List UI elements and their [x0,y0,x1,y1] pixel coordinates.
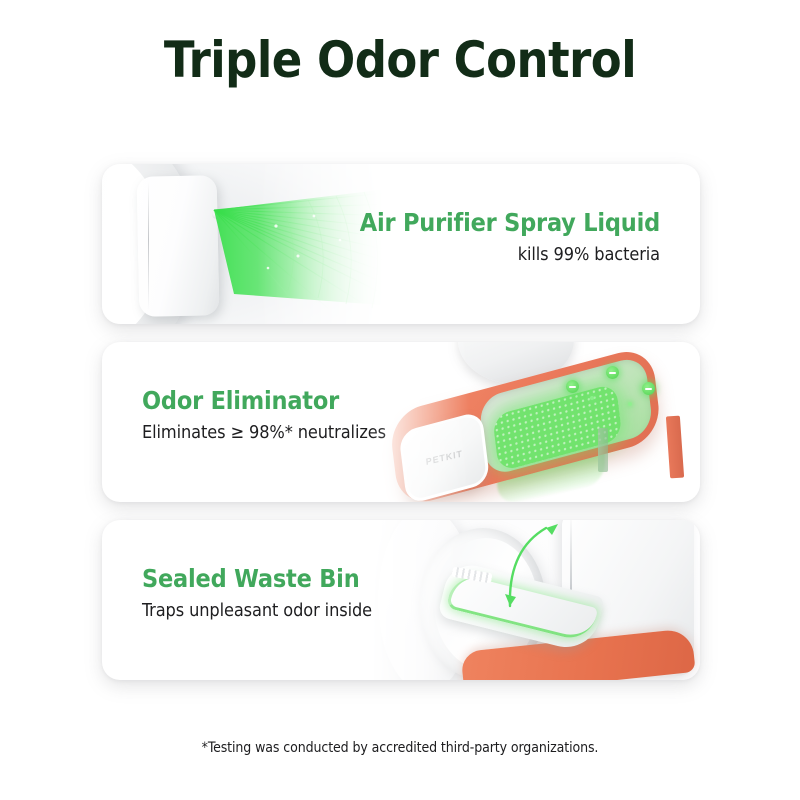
spray-module-seam [148,182,149,310]
ion-particle-icon [566,380,579,393]
product-feature-page: Triple Odor Control [0,0,800,800]
sparkle-icon [590,396,594,400]
sealed-waste-bin-illustration [370,520,700,680]
card-1-heading: Air Purifier Spray Liquid [360,208,660,238]
card-2-text-block: Odor Eliminator Eliminates ≥ 98%* neutra… [142,386,386,445]
air-purifier-illustration [102,164,402,324]
feature-card-sealed-waste-bin: Sealed Waste Bin Traps unpleasant odor i… [102,520,700,680]
card-2-heading: Odor Eliminator [142,386,386,416]
green-curved-arrow-icon [490,520,620,626]
card-3-text-block: Sealed Waste Bin Traps unpleasant odor i… [142,564,372,623]
card-2-subtext: Eliminates ≥ 98%* neutralizes [142,421,386,445]
page-title: Triple Odor Control [0,30,800,90]
card-1-subtext: kills 99% bacteria [360,243,660,267]
sparkle-icon [628,402,632,406]
feature-card-odor-eliminator: Odor Eliminator Eliminates ≥ 98%* neutra… [102,342,700,502]
odor-eliminator-illustration: PETKIT [370,342,700,502]
footnote-text: *Testing was conducted by accredited thi… [0,738,800,758]
ion-particle-icon [642,382,655,395]
feature-card-air-purifier: Air Purifier Spray Liquid kills 99% bact… [102,164,700,324]
card-3-heading: Sealed Waste Bin [142,564,372,594]
card-1-text-block: Air Purifier Spray Liquid kills 99% bact… [360,208,660,267]
tray-leg-center [598,428,608,472]
petkit-cartridge-label: PETKIT [425,448,463,467]
card-3-subtext: Traps unpleasant odor inside [142,599,372,623]
ion-particle-icon [606,366,619,379]
